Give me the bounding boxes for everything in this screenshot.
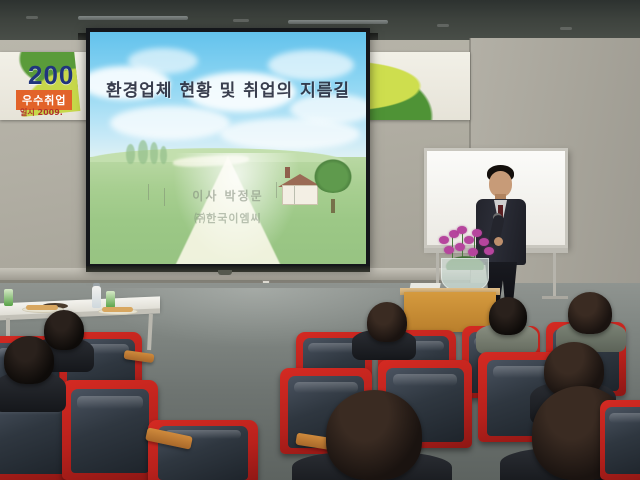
ceiling-vent: [233, 19, 249, 22]
presenter-hand: [494, 237, 503, 246]
projected-slide: 환경업체 현황 및 취업의 지름길 이사 박정문 ㈜한국이엠씨: [90, 32, 366, 264]
slide-presenter-name: 이사 박정문: [90, 187, 366, 204]
audience-head: [44, 310, 84, 350]
orchid-bloom: [464, 236, 474, 244]
distant-tree: [160, 146, 167, 164]
distant-tree: [150, 142, 158, 164]
orchid-bloom: [472, 229, 482, 237]
audience-head: [489, 297, 527, 335]
orchid-bloom: [479, 238, 489, 246]
glass-vase: [441, 258, 489, 292]
audience-head: [4, 336, 54, 384]
distant-tree: [126, 144, 135, 164]
banner-year-text: 200: [28, 60, 74, 91]
banner-date-text: 일시 2009.: [20, 107, 63, 118]
orchid-bloom: [439, 236, 449, 244]
orchid-bloom: [455, 243, 465, 251]
ceiling-light-fixture: [78, 16, 188, 20]
whiteboard-foot: [542, 296, 568, 299]
cloud: [110, 106, 230, 140]
ceiling-vent: [26, 16, 38, 19]
ceiling-light-fixture: [288, 20, 388, 24]
audience-head: [367, 302, 407, 342]
soda-can: [106, 291, 115, 308]
audience-head: [326, 390, 422, 480]
ceiling-vent: [560, 27, 572, 30]
orchid-bloom: [457, 226, 467, 234]
whiteboard-leg: [553, 253, 556, 297]
ceiling-vent: [437, 24, 449, 27]
projection-screen: 환경업체 현황 및 취업의 지름길 이사 박정문 ㈜한국이엠씨: [86, 28, 370, 268]
slide-company-name: ㈜한국이엠씨: [90, 210, 366, 226]
distant-tree: [138, 140, 148, 164]
seat-cushion: [605, 407, 640, 474]
water-bottle: [92, 286, 101, 308]
audience-head: [568, 292, 612, 334]
cloud: [128, 48, 198, 74]
slide-title: 환경업체 현황 및 취업의 지름길: [90, 76, 366, 101]
lecture-hall-photo: 200 우수취업 일시 2009. 수회 강전탁토론 학교 환경공학과: [0, 0, 640, 480]
seat-cushion: [71, 389, 150, 473]
screen-pull-tab: [218, 270, 232, 275]
snack-food: [102, 307, 133, 312]
projector-glare: [173, 153, 300, 264]
auditorium-seat: [600, 400, 640, 480]
auditorium-seat: [148, 420, 258, 480]
soda-can: [4, 289, 13, 306]
auditorium-seat: [62, 380, 158, 480]
snack-food: [26, 305, 58, 310]
